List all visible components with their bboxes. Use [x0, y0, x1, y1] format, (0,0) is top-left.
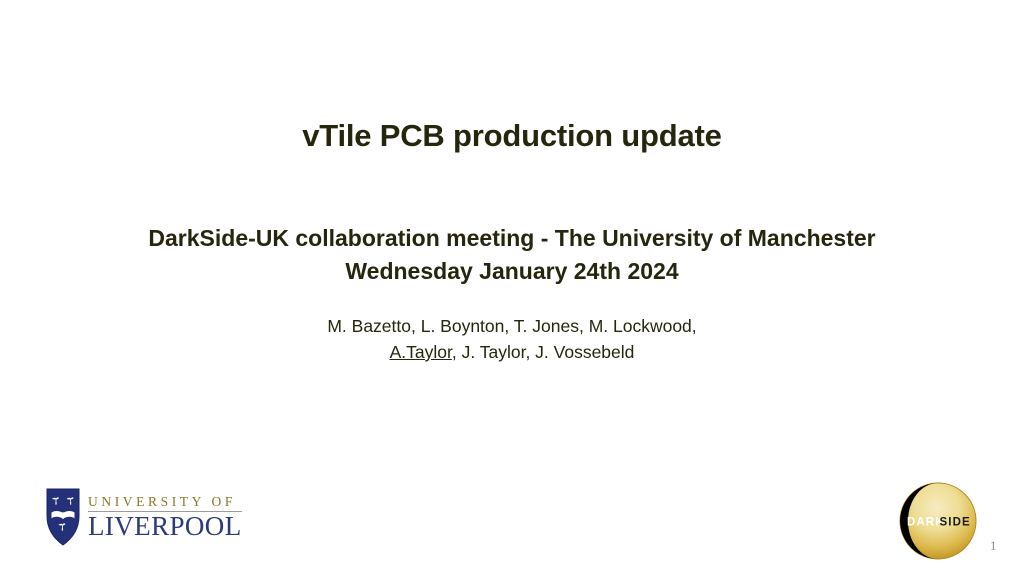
liverpool-university-text: UNIVERSITY OF [88, 495, 242, 511]
author-line-2: A.Taylor, J. Taylor, J. Vossebeld [0, 340, 1024, 366]
liverpool-shield-icon [46, 488, 80, 546]
subtitle-line-2: Wednesday January 24th 2024 [0, 255, 1024, 288]
slide: vTile PCB production update DarkSide-UK … [0, 0, 1024, 576]
page-number: 1 [990, 538, 1014, 554]
liverpool-name-text: LIVERPOOL [88, 513, 242, 541]
darkside-logo: DARK SIDE [897, 480, 979, 562]
author-list: M. Bazetto, L. Boynton, T. Jones, M. Loc… [0, 314, 1024, 366]
slide-title: vTile PCB production update [0, 118, 1024, 154]
presenting-author: A.Taylor [390, 342, 452, 362]
author-line-1: M. Bazetto, L. Boynton, T. Jones, M. Loc… [0, 314, 1024, 340]
liverpool-wordmark: UNIVERSITY OF LIVERPOOL [88, 493, 242, 541]
author-line-2-rest: , J. Taylor, J. Vossebeld [452, 342, 635, 362]
university-of-liverpool-logo: UNIVERSITY OF LIVERPOOL [46, 486, 238, 548]
darkside-text-light: SIDE [940, 517, 971, 529]
slide-subtitle: DarkSide-UK collaboration meeting - The … [0, 222, 1024, 289]
subtitle-line-1: DarkSide-UK collaboration meeting - The … [0, 222, 1024, 255]
darkside-sphere-icon: DARK SIDE [897, 480, 979, 562]
